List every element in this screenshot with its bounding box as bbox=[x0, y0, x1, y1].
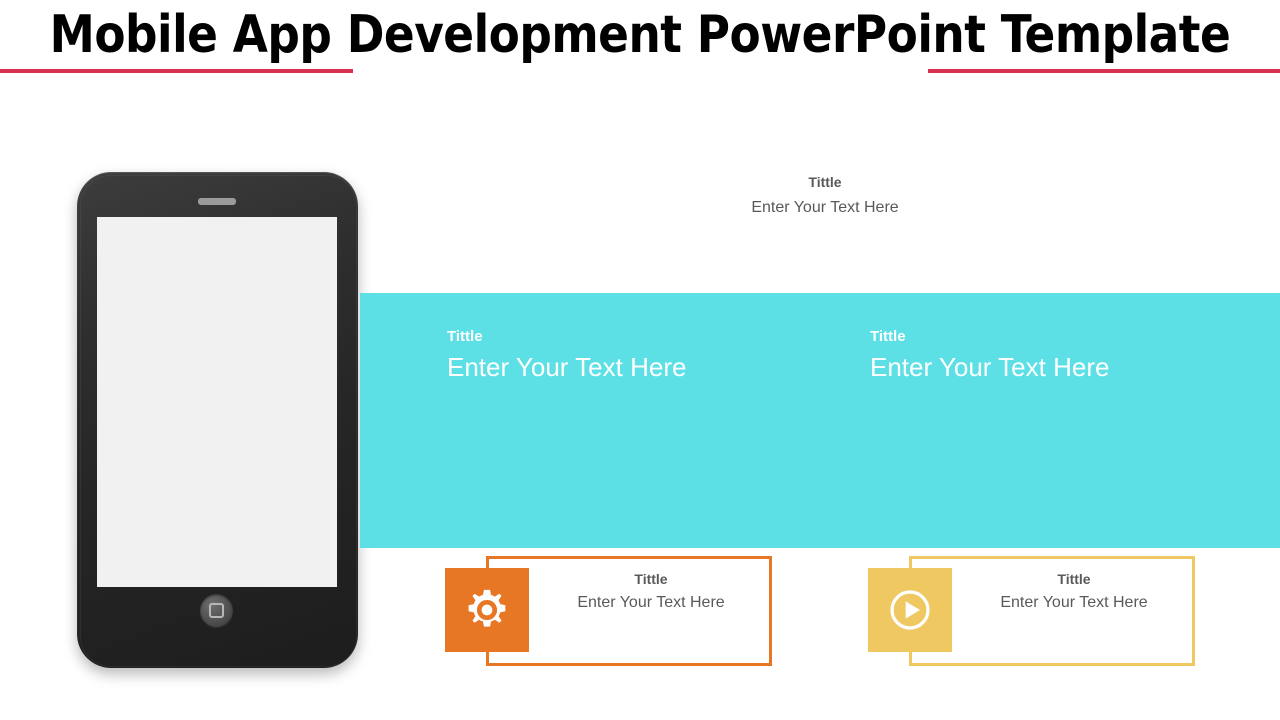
cyan-column-1-body: Enter Your Text Here bbox=[447, 352, 686, 382]
feature-card-1-body: Enter Your Text Here bbox=[536, 593, 766, 613]
cyan-column-1-title: Tittle bbox=[447, 328, 686, 346]
play-icon bbox=[887, 587, 933, 633]
feature-card-play[interactable]: Tittle Enter Your Text Here bbox=[909, 556, 1195, 666]
feature-icon-box[interactable] bbox=[868, 568, 952, 652]
phone-mockup bbox=[77, 172, 358, 668]
feature-card-2-title: Tittle bbox=[959, 569, 1189, 589]
cyan-column-1: Tittle Enter Your Text Here bbox=[447, 328, 686, 382]
rounded-square-icon bbox=[209, 603, 224, 618]
home-button[interactable] bbox=[200, 594, 233, 627]
feature-icon-box[interactable] bbox=[445, 568, 529, 652]
page-title: Mobile App Development PowerPoint Templa… bbox=[19, 2, 1261, 68]
title-underline-left bbox=[0, 69, 353, 73]
cyan-column-2: Tittle Enter Your Text Here bbox=[870, 328, 1109, 382]
gear-icon bbox=[464, 587, 510, 633]
feature-card-text: Tittle Enter Your Text Here bbox=[536, 569, 766, 613]
phone-body bbox=[77, 172, 358, 668]
feature-card-2-body: Enter Your Text Here bbox=[959, 593, 1189, 613]
feature-card-1-title: Tittle bbox=[536, 569, 766, 589]
top-text-body: Enter Your Text Here bbox=[700, 198, 950, 218]
feature-card-gear[interactable]: Tittle Enter Your Text Here bbox=[486, 556, 772, 666]
feature-card-text: Tittle Enter Your Text Here bbox=[959, 569, 1189, 613]
cyan-column-2-body: Enter Your Text Here bbox=[870, 352, 1109, 382]
cyan-content-band: Tittle Enter Your Text Here Tittle Enter… bbox=[360, 293, 1280, 548]
slide-header: Mobile App Development PowerPoint Templa… bbox=[0, 0, 1280, 80]
top-text-title: Tittle bbox=[700, 172, 950, 192]
top-text-block: Tittle Enter Your Text Here bbox=[700, 172, 950, 218]
title-underline-right bbox=[928, 69, 1280, 73]
phone-screen[interactable] bbox=[97, 217, 337, 587]
cyan-column-2-title: Tittle bbox=[870, 328, 1109, 346]
speaker-grille-icon bbox=[198, 198, 236, 205]
